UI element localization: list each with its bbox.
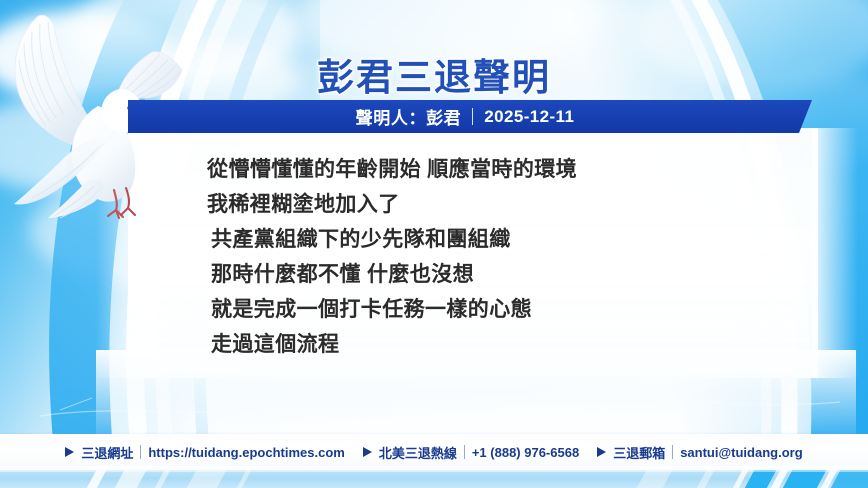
triangle-bullet-icon (597, 447, 606, 457)
statement-line: 那時什麼都不懂 什麼也沒想 (207, 257, 807, 292)
strip-streak (107, 470, 150, 488)
statement-line: 就是完成一個打卡任務一樣的心態 (207, 292, 807, 327)
strip-streak (79, 470, 110, 488)
footer-contact-row: 三退網址 https://tuidang.epochtimes.com 北美三退… (0, 434, 868, 470)
footer-label-website: 三退網址 (81, 443, 133, 462)
slide-canvas: 彭君三退聲明 聲明人：彭君 2025-12-11 從懵懵懂懂的年齡開始 順應當時… (0, 0, 868, 488)
strip-streak (629, 470, 676, 488)
declaration-date: 2025-12-11 (484, 107, 574, 127)
declaration-banner: 聲明人：彭君 2025-12-11 (128, 100, 812, 133)
statement-line: 從懵懵懂懂的年齡開始 順應當時的環境 (207, 152, 807, 187)
footer-value-hotline[interactable]: +1 (888) 976-6568 (472, 445, 579, 460)
triangle-bullet-icon (65, 447, 74, 457)
footer-divider (140, 445, 141, 459)
footer-label-email: 三退郵箱 (613, 443, 665, 462)
statement-body: 從懵懵懂懂的年齡開始 順應當時的環境 我稀裡糊塗地加入了 共產黨組織下的少先隊和… (207, 152, 807, 362)
footer-value-email[interactable]: santui@tuidang.org (680, 445, 802, 460)
footer-label-hotline: 北美三退熱線 (379, 443, 457, 462)
statement-line: 共產黨組織下的少先隊和團組織 (207, 222, 807, 257)
strip-streak (179, 470, 230, 488)
panel-right-fade (812, 128, 858, 378)
footer-divider (672, 445, 673, 459)
statement-line: 走過這個流程 (207, 327, 807, 362)
footer-value-website[interactable]: https://tuidang.epochtimes.com (148, 445, 344, 460)
statement-line: 我稀裡糊塗地加入了 (207, 187, 807, 222)
footer-divider (464, 445, 465, 459)
footer-bar: 三退網址 https://tuidang.epochtimes.com 北美三退… (0, 434, 868, 470)
banner-separator (472, 108, 473, 125)
page-title: 彭君三退聲明 (0, 47, 868, 101)
strip-streak (689, 470, 718, 488)
banner-content: 聲明人：彭君 2025-12-11 (128, 100, 812, 133)
strip-streak (229, 470, 255, 488)
footer-item-email[interactable]: 三退郵箱 santui@tuidang.org (597, 443, 802, 462)
triangle-bullet-icon (363, 447, 372, 457)
footer-item-hotline[interactable]: 北美三退熱線 +1 (888) 976-6568 (363, 443, 579, 462)
footer-item-website[interactable]: 三退網址 https://tuidang.epochtimes.com (65, 443, 344, 462)
strip-streak (147, 470, 174, 488)
footer-bottom-edge (0, 466, 868, 472)
panel-bottom-fade (96, 350, 856, 445)
declarant-label: 聲明人：彭君 (356, 104, 462, 129)
bottom-accent-strip (0, 470, 868, 488)
